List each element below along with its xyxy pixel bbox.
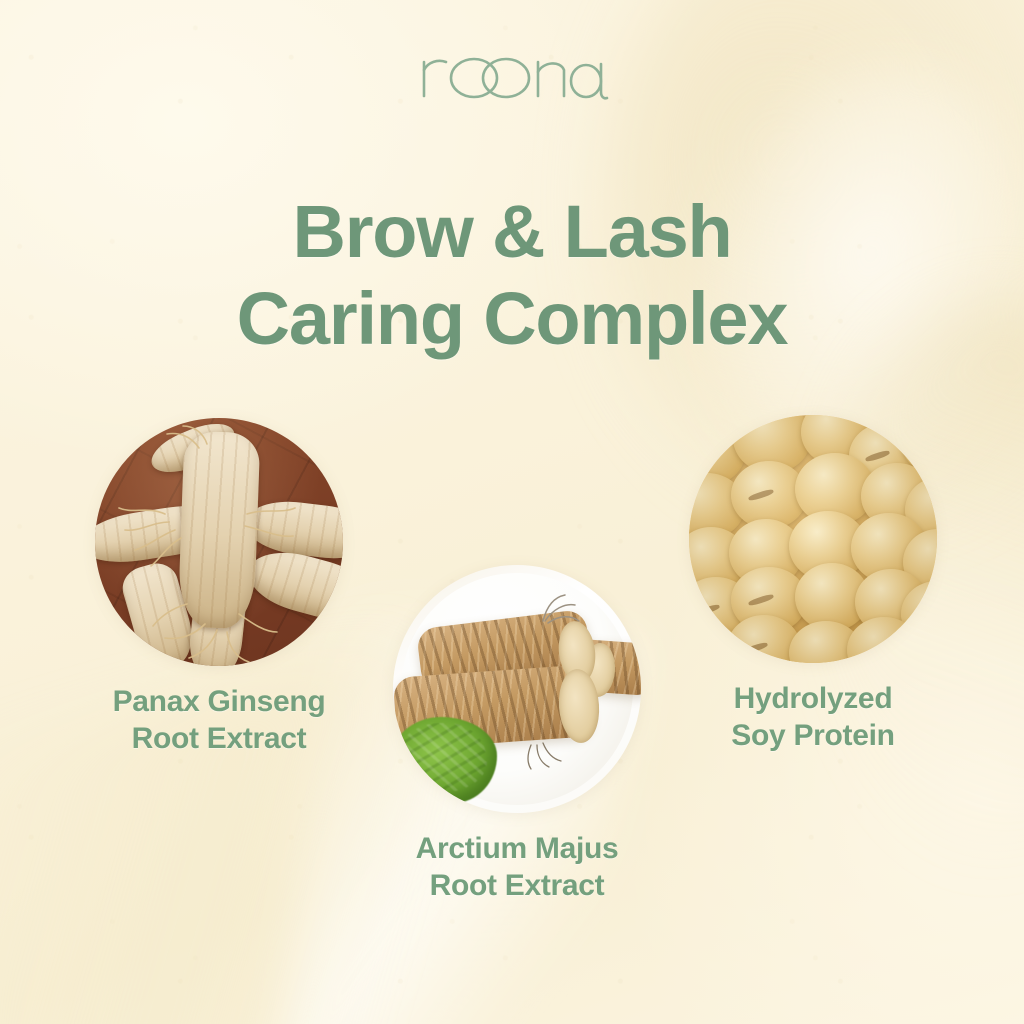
burdock-roots-photo <box>393 565 641 813</box>
ingredient-label-arctium-majus: Arctium Majus Root Extract <box>393 831 641 904</box>
ingredient-panax-ginseng[interactable]: Panax Ginseng Root Extract <box>95 418 343 757</box>
ingredient-arctium-majus[interactable]: Arctium Majus Root Extract <box>393 565 641 904</box>
soybeans-photo <box>689 415 937 663</box>
ingredient-hydrolyzed-soy-protein[interactable]: Hydrolyzed Soy Protein <box>689 415 937 754</box>
ingredient-label-hydrolyzed-soy-protein: Hydrolyzed Soy Protein <box>689 681 937 754</box>
page-title: Brow & Lash Caring Complex <box>0 189 1024 362</box>
brand-header <box>0 42 1024 109</box>
product-infographic-poster: Brow & Lash Caring Complex <box>0 0 1024 1024</box>
headline-line-2: Caring Complex <box>0 276 1024 363</box>
roona-logo[interactable] <box>414 42 610 104</box>
ginseng-roots-photo <box>95 418 343 666</box>
burdock-root-hairs <box>393 565 641 813</box>
headline-line-1: Brow & Lash <box>0 189 1024 276</box>
ginseng-rootlets <box>95 418 343 666</box>
ingredient-label-panax-ginseng: Panax Ginseng Root Extract <box>95 684 343 757</box>
